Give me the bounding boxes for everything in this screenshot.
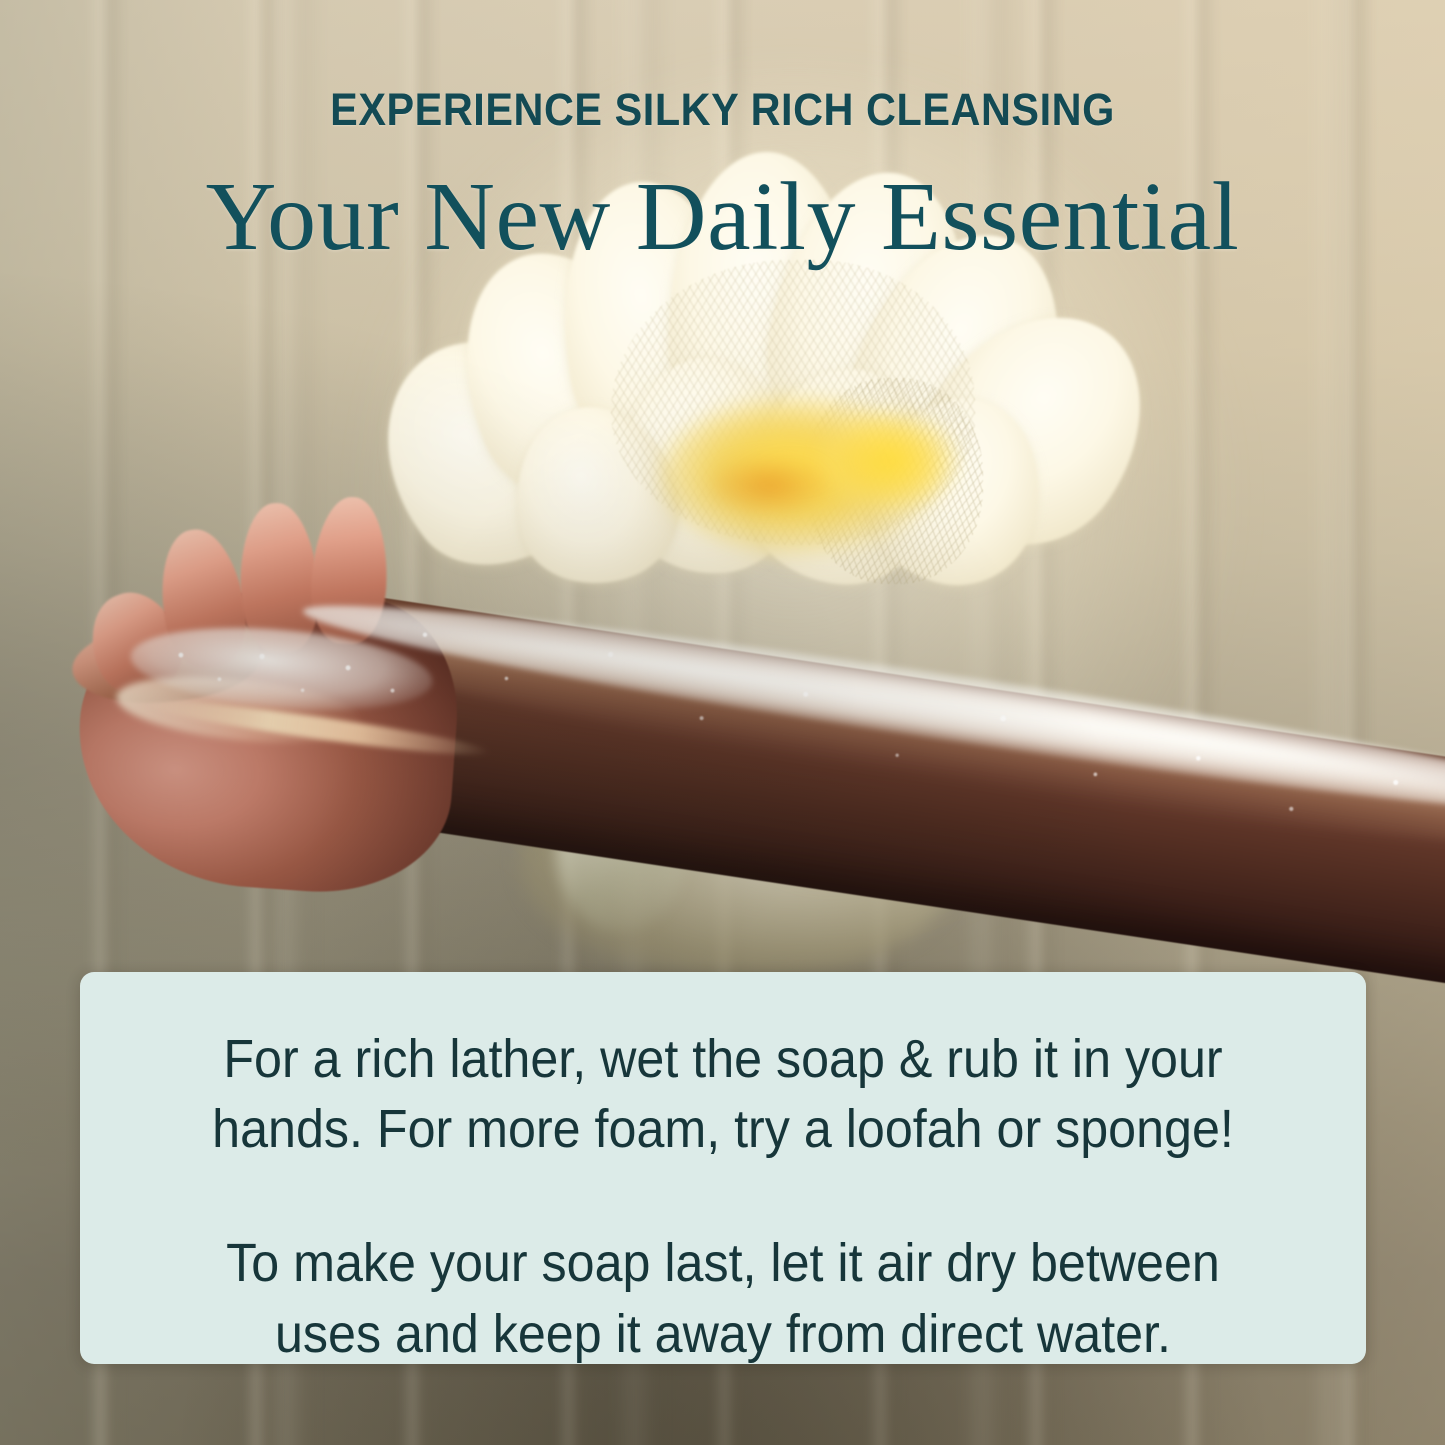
infographic-canvas: EXPERIENCE SILKY RICH CLEANSING Your New…: [0, 0, 1445, 1445]
tip-paragraph-lather: For a rich lather, wet the soap & rub it…: [179, 1024, 1267, 1164]
eyebrow-text: EXPERIENCE SILKY RICH CLEANSING: [58, 86, 1387, 133]
page-title: Your New Daily Essential: [0, 168, 1445, 266]
usage-tips-card: For a rich lather, wet the soap & rub it…: [80, 972, 1366, 1364]
tip-paragraph-care: To make your soap last, let it air dry b…: [179, 1228, 1267, 1368]
